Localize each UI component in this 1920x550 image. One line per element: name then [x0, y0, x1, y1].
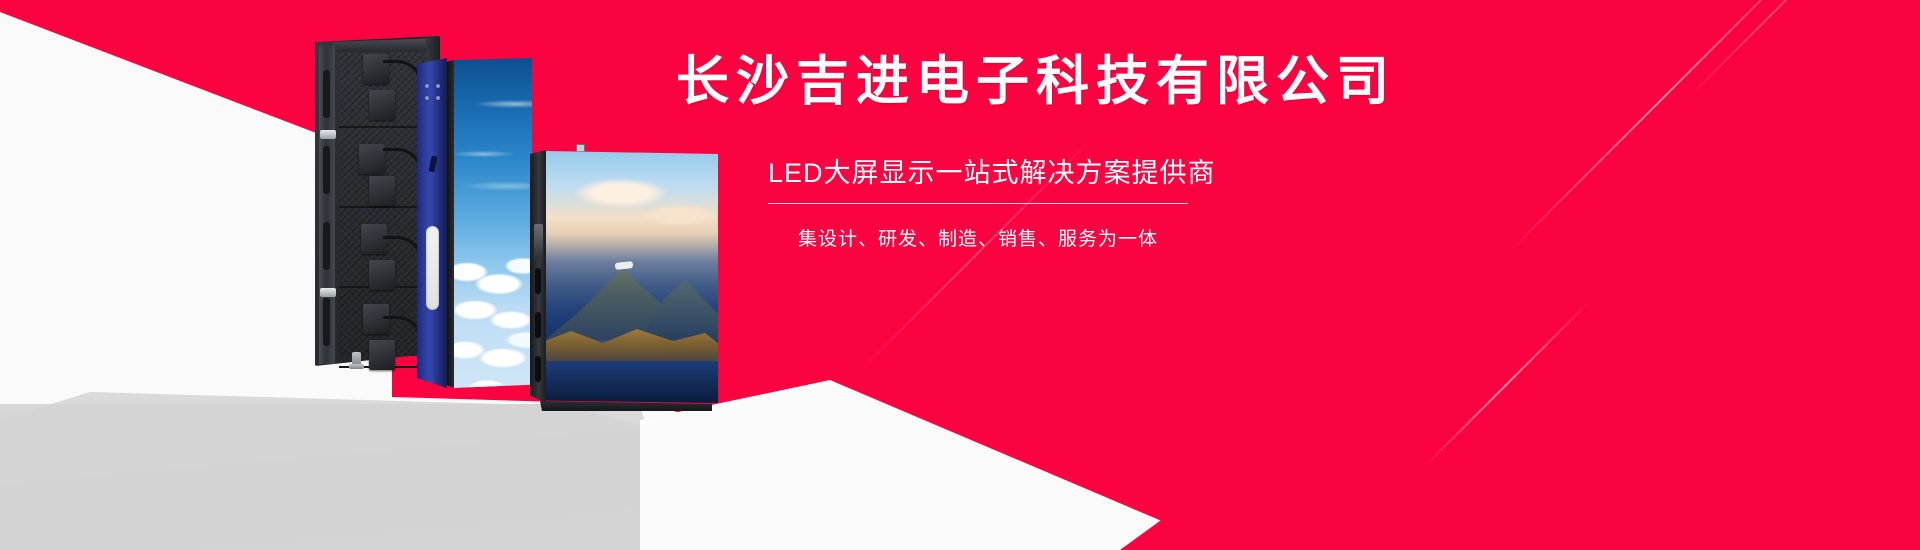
led-screen-sky — [453, 58, 532, 388]
vent-slot — [535, 356, 541, 382]
product-image-group — [0, 0, 760, 450]
led-cabinet-sky-display — [417, 58, 532, 388]
cloud — [573, 178, 669, 208]
screw — [436, 96, 440, 100]
cabinet-handle — [426, 226, 439, 310]
connector — [320, 130, 336, 139]
sensor-module — [576, 144, 585, 152]
power-box — [369, 90, 395, 120]
snow-cap — [615, 261, 634, 270]
power-box — [369, 176, 395, 206]
cabinet-foot-base — [349, 364, 364, 369]
connector — [320, 288, 336, 297]
banner-subtitle: LED大屏显示一站式解决方案提供商 — [768, 157, 1188, 191]
divider-line — [768, 203, 1188, 204]
screw — [436, 84, 440, 88]
subtitle-block: LED大屏显示一站式解决方案提供商 集设计、研发、制造、销售、服务为一体 — [768, 157, 1188, 251]
cabinet-top-bar — [333, 38, 440, 52]
company-title: 长沙吉进电子科技有限公司 — [676, 52, 1806, 113]
cabinet-interior — [339, 48, 426, 356]
connector-module — [534, 224, 543, 260]
power-box — [369, 340, 395, 370]
blue-side-frame — [417, 58, 447, 388]
vent-slot — [323, 70, 330, 118]
screw-group — [425, 84, 441, 104]
vent-slot — [535, 268, 541, 294]
vent-slot — [323, 146, 330, 194]
vent-slot — [323, 222, 330, 270]
vent-slot — [323, 298, 330, 346]
banner-copy: 长沙吉进电子科技有限公司 LED大屏显示一站式解决方案提供商 集设计、研发、制造… — [676, 52, 1806, 251]
banner-tagline: 集设计、研发、制造、销售、服务为一体 — [768, 224, 1188, 251]
hero-banner: 长沙吉进电子科技有限公司 LED大屏显示一站式解决方案提供商 集设计、研发、制造… — [0, 0, 1920, 550]
vent-slot — [535, 312, 541, 338]
screw — [425, 96, 429, 100]
screen-bezel — [446, 58, 454, 388]
lake-water — [545, 361, 718, 403]
power-box — [369, 260, 395, 290]
power-box — [359, 144, 385, 174]
screw — [425, 84, 429, 88]
